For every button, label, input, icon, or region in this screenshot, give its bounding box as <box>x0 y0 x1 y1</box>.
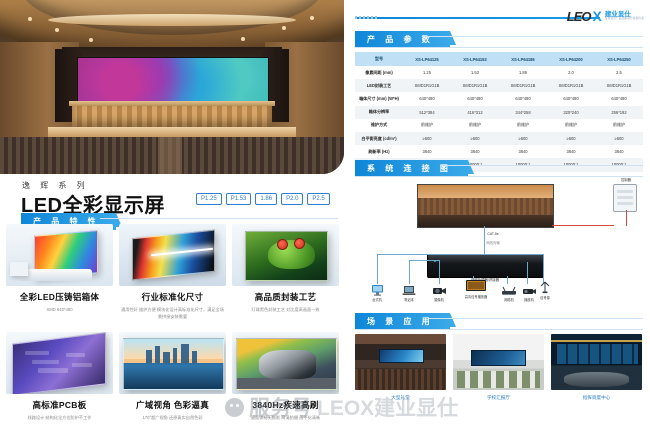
table-row-label: 箱体分辨率 <box>355 106 403 119</box>
table-cell: 640*480 <box>499 92 547 105</box>
feature-card: 高标准PCB板 线路设计 结构化全方位防护不工作 <box>6 332 113 421</box>
device-label: 摄像机 <box>431 297 447 302</box>
pitch-badge: P2.0 <box>281 193 303 205</box>
table-cell: 3840 <box>451 145 499 158</box>
device-label: 台式机 <box>369 297 385 302</box>
table-row-label: 维护方式 <box>355 119 403 132</box>
camera-icon <box>431 283 447 296</box>
table-cell: 3840 <box>499 145 547 158</box>
table-cell: 416*312 <box>451 106 499 119</box>
feature-row-bottom: 高标准PCB板 线路设计 结构化全方位防护不工作 <box>6 332 339 421</box>
table-cell: 前维护 <box>547 119 595 132</box>
section-rule <box>355 176 643 177</box>
feature-title: 广域视角 色彩逼真 <box>119 399 226 411</box>
table-cell: ≥600 <box>547 132 595 145</box>
led-cabinet-colorful-panel-image <box>6 224 113 286</box>
table-cell: 1.53 <box>451 66 499 79</box>
diagram-device: 台式机 <box>369 283 385 302</box>
table-row: 刷新率 (Hz) 3840 3840 3840 3840 3840 <box>355 145 643 158</box>
table-cell: 3840 <box>403 145 451 158</box>
table-col-header: XS-LP64153 <box>451 52 499 66</box>
table-col-header: XS-LP64200 <box>547 52 595 66</box>
feature-grid: 全彩LED压铸铝箱体 SMD 640*480 行业标准化尺寸 通用性好 维护方便… <box>6 224 339 421</box>
diagram-device: 播放机 <box>521 283 537 302</box>
table-row: 白平衡亮度 (cd/m²) ≥600 ≥600 ≥600 ≥600 ≥600 <box>355 132 643 145</box>
system-connection-diagram: 控制器 CAT-5e 网线传输 视频处理器/拼接器 台式机 <box>355 182 643 302</box>
section-tag-label: 场 景 应 用 <box>355 313 450 330</box>
section-tag-label: 系 统 连 接 图 <box>355 160 468 177</box>
feature-row-top: 全彩LED压铸铝箱体 SMD 640*480 行业标准化尺寸 通用性好 维护方便… <box>6 224 339 320</box>
logo-x-icon: X <box>593 8 602 24</box>
scene-card: 指挥调度中心 <box>551 334 642 401</box>
antenna-icon <box>537 281 553 294</box>
table-cell: 3840 <box>595 145 643 158</box>
high-quality-packaging-frog-image <box>232 224 339 286</box>
standard-size-led-panel-image <box>119 224 226 286</box>
table-header-row: 型号 XS-LP64125 XS-LP64153 XS-LP64186 XS-L… <box>355 52 643 66</box>
feature-title: 高品质封装工艺 <box>232 291 339 303</box>
table-cell: 512*384 <box>403 106 451 119</box>
diagram-controller-box <box>613 184 637 212</box>
table-row: 箱体分辨率 512*384 416*312 344*258 320*240 25… <box>355 106 643 119</box>
feature-title: 行业标准化尺寸 <box>119 291 226 303</box>
table-cell: 前维护 <box>451 119 499 132</box>
device-label: 网络机 <box>501 297 517 302</box>
feature-subtitle: 线路设计 结构化全方位防护不工作 <box>6 414 113 421</box>
header-rule <box>355 17 600 19</box>
scene-caption: 大型礼堂 <box>355 395 446 401</box>
header-dots <box>355 16 377 19</box>
section-header-scenes: 场 景 应 用 <box>355 311 450 330</box>
table-cell: SMD1R1G1B <box>499 79 547 92</box>
section-rule <box>423 36 643 37</box>
table-cell: 320*240 <box>547 106 595 119</box>
classroom-scene-image <box>453 334 544 390</box>
section-rule <box>100 218 338 219</box>
scene-card: 大型礼堂 <box>355 334 446 401</box>
table-row: 维护方式 前维护 前维护 前维护 前维护 前维护 <box>355 119 643 132</box>
pitch-badge-list: P1.25 P1.53 1.86 P2.0 P2.5 <box>196 193 330 205</box>
brand-logo: LEO X 建业显仕 专业显示产品及解决方案提供商 <box>567 8 644 24</box>
table-cell: 640*480 <box>451 92 499 105</box>
table-cell: 前维护 <box>403 119 451 132</box>
table-row-label: 刷新率 (Hz) <box>355 145 403 158</box>
right-page: LEO X 建业显仕 专业显示产品及解决方案提供商 产 品 参 数 型号 XS-… <box>345 0 650 424</box>
pitch-badge: P1.25 <box>196 193 222 205</box>
table-cell: 640*480 <box>595 92 643 105</box>
brochure-page: 逸 辉 系 列 LED全彩显示屏 P1.25 P1.53 1.86 P2.0 P… <box>0 0 650 424</box>
section-header-specs: 产 品 参 数 <box>355 29 450 48</box>
feature-subtitle: 画面流畅无拖影 高清拍摄 画平化清晰 <box>232 414 339 421</box>
device-label: 信号源 <box>537 295 553 300</box>
device-label: 播放机 <box>521 297 537 302</box>
feature-card: 广域视角 色彩逼真 170°超广视角 还原真实自然色彩 <box>119 332 226 421</box>
section-rule <box>429 318 643 319</box>
table-cell: 2.0 <box>547 66 595 79</box>
hero-image-auditorium <box>0 0 344 174</box>
router-icon <box>501 283 517 296</box>
pcb-board-image <box>6 332 113 394</box>
device-label: 笔记本 <box>401 297 417 302</box>
table-cell: ≥600 <box>499 132 547 145</box>
section-tag-label: 产 品 参 数 <box>355 31 450 48</box>
table-cell: ≥600 <box>403 132 451 145</box>
table-col-header: XS-LP64125 <box>403 52 451 66</box>
feature-card: 行业标准化尺寸 通用性好 维护方便 模块化设计高标准化尺寸，满足全场景拼接安装需… <box>119 224 226 320</box>
pitch-badge: 1.86 <box>255 193 277 205</box>
table-row-label: 箱体尺寸 (mm) (W*H) <box>355 92 403 105</box>
logo-wordmark: LEO <box>567 9 591 24</box>
logo-chinese-name: 建业显仕 专业显示产品及解决方案提供商 <box>605 11 644 21</box>
table-cell: 1.25 <box>403 66 451 79</box>
table-row-label: 白平衡亮度 (cd/m²) <box>355 132 403 145</box>
desktop-icon <box>369 283 385 296</box>
hero-led-screen <box>77 57 268 103</box>
spec-table: 型号 XS-LP64125 XS-LP64153 XS-LP64186 XS-L… <box>355 52 643 172</box>
feature-subtitle: 170°超广视角 还原真实自然色彩 <box>119 414 226 421</box>
diagram-device: 摄像机 <box>431 283 447 302</box>
feature-title: 全彩LED压铸铝箱体 <box>6 291 113 303</box>
table-row: LED封装工艺 SMD1R1G1B SMD1R1G1B SMD1R1G1B SM… <box>355 79 643 92</box>
table-col-header: XS-LP64186 <box>499 52 547 66</box>
left-page: 逸 辉 系 列 LED全彩显示屏 P1.25 P1.53 1.86 P2.0 P… <box>0 0 345 424</box>
table-cell: 256*192 <box>595 106 643 119</box>
table-col-header: 型号 <box>355 52 403 66</box>
scene-gallery: 大型礼堂 学校汇报厅 指挥调度中心 <box>355 334 643 401</box>
pitch-badge: P2.5 <box>307 193 329 205</box>
diagram-device: 信号源 <box>537 281 553 300</box>
table-row: 像素间距 (mm) 1.25 1.53 1.86 2.0 2.5 <box>355 66 643 79</box>
monitor-icon <box>459 280 493 293</box>
table-cell: ≥600 <box>451 132 499 145</box>
diagram-device: 网络机 <box>501 283 517 302</box>
table-row-label: 像素间距 (mm) <box>355 66 403 79</box>
section-header-diagram: 系 统 连 接 图 <box>355 158 468 177</box>
table-cell: SMD1R1G1B <box>451 79 499 92</box>
feature-subtitle: 通用性好 维护方便 模块化设计高标准化尺寸，满足全场景拼接安装需要 <box>119 306 226 320</box>
table-cell: 640*480 <box>403 92 451 105</box>
table-row-label: LED封装工艺 <box>355 79 403 92</box>
scene-card: 学校汇报厅 <box>453 334 544 401</box>
feature-subtitle: 灯珠黑色封装工艺 对比度高画面一致 <box>232 306 339 313</box>
feature-card: 全彩LED压铸铝箱体 SMD 640*480 <box>6 224 113 320</box>
device-label: 高清信号播放器 <box>459 294 493 299</box>
feature-card: 高品质封装工艺 灯珠黑色封装工艺 对比度高画面一致 <box>232 224 339 320</box>
diagram-device: 笔记本 <box>401 283 417 302</box>
scene-caption: 指挥调度中心 <box>551 395 642 401</box>
scene-caption: 学校汇报厅 <box>453 395 544 401</box>
table-cell: 前维护 <box>595 119 643 132</box>
table-cell: 640*480 <box>547 92 595 105</box>
section-rule <box>441 165 643 166</box>
high-refresh-motorcycle-image <box>232 332 339 394</box>
projector-icon <box>521 283 537 296</box>
wide-viewing-angle-city-image <box>119 332 226 394</box>
diagram-controller-label: 控制器 <box>613 177 639 182</box>
section-rule <box>355 47 643 48</box>
control-center-scene-image <box>551 334 642 390</box>
table-cell: 2.5 <box>595 66 643 79</box>
logo-cn-tagline: 专业显示产品及解决方案提供商 <box>605 18 644 21</box>
table-cell: 前维护 <box>499 119 547 132</box>
diagram-led-wall <box>417 184 554 228</box>
table-cell: ≥600 <box>595 132 643 145</box>
auditorium-scene-image <box>355 334 446 390</box>
table-cell: SMD1R1G1B <box>547 79 595 92</box>
pitch-badge: P1.53 <box>226 193 252 205</box>
table-row: 箱体尺寸 (mm) (W*H) 640*480 640*480 640*480 … <box>355 92 643 105</box>
table-cell: 344*258 <box>499 106 547 119</box>
table-cell: SMD1R1G1B <box>595 79 643 92</box>
laptop-icon <box>401 283 417 296</box>
feature-title: 3840Hz疾速高刷 <box>232 399 339 411</box>
table-cell: 1.86 <box>499 66 547 79</box>
diagram-device: 高清信号播放器 <box>459 280 493 299</box>
table-cell: 3840 <box>547 145 595 158</box>
table-col-header: XS-LP64250 <box>595 52 643 66</box>
diagram-cable-label: CAT-5e <box>473 232 513 236</box>
feature-card: 3840Hz疾速高刷 画面流畅无拖影 高清拍摄 画平化清晰 <box>232 332 339 421</box>
diagram-cable-sublabel: 网线传输 <box>473 240 513 245</box>
table-cell: SMD1R1G1B <box>403 79 451 92</box>
feature-title: 高标准PCB板 <box>6 399 113 411</box>
section-rule <box>355 329 643 330</box>
feature-subtitle: SMD 640*480 <box>6 306 113 313</box>
